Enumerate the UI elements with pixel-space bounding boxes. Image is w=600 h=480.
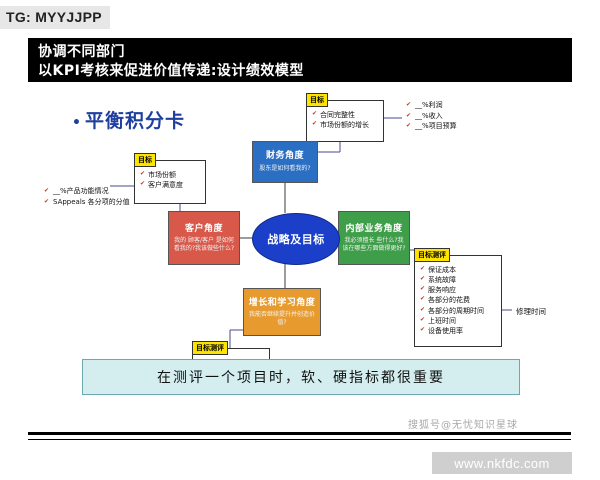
node-title: 增长和学习角度 [249, 298, 316, 309]
callout-item: 各部分的花费 [420, 295, 497, 305]
callout-item: 市场份额 [140, 170, 201, 180]
callout-finance-objectives: 目标 合同完整性 市场份额的增长 [306, 100, 384, 142]
node-customer: 客户角度 我的 顾客/客户 是如何看我的?我该做些什么? [168, 211, 240, 265]
callout-item: 上班时间 [420, 316, 497, 326]
watermark-cn: 搜狐号@无忧知识星球 [408, 416, 518, 431]
node-subtitle: 我的 顾客/客户 是如何看我的?我该做些什么? [169, 237, 239, 253]
node-finance: 财务角度 股东是如何看我的? [252, 141, 318, 183]
node-title: 财务角度 [266, 151, 304, 162]
checklist-item: SAppeals 各分项的分值 [44, 197, 130, 208]
node-subtitle: 我必须擅长 些什么?我该在哪些方面做得更好? [339, 237, 409, 253]
summary-banner: 在测评一个项目时，软、硬指标都很重要 [82, 359, 520, 395]
callout-tag: 目标 [134, 153, 156, 167]
callout-item: 服务响应 [420, 285, 497, 295]
callout-item: 系统故障 [420, 275, 497, 285]
checklist-customer-metrics: __%产品功能情况 SAppeals 各分项的分值 [44, 186, 130, 207]
callout-item: 市场份额的增长 [312, 120, 379, 130]
node-subtitle: 股东是如何看我的? [256, 165, 313, 173]
callout-list: 市场份额 客户满意度 [140, 170, 201, 190]
footer-rule-thick [28, 432, 571, 435]
callout-tag: 目标测评 [414, 248, 450, 262]
callout-item: 客户满意度 [140, 180, 201, 190]
checklist-financial-metrics: __%利润 __%收入 __%项目预算 [406, 100, 457, 132]
callout-item: 保证成本 [420, 265, 497, 275]
watermark-url: www.nkfdc.com [432, 452, 572, 474]
page-title-text: 平衡积分卡 [85, 110, 185, 132]
callout-customer-objectives: 目标 市场份额 客户满意度 [134, 160, 206, 204]
callout-item: 设备使用率 [420, 326, 497, 336]
callout-list: 合同完整性 市场份额的增长 [312, 110, 379, 130]
footer-rule-thin [28, 439, 571, 440]
title-line-2: 以KPI考核来促进价值传递:设计绩效模型 [38, 60, 304, 80]
node-subtitle: 我能否继续提升并创造价值? [244, 311, 320, 327]
callout-item: 各部分的周期时间 [420, 306, 497, 316]
node-title: 客户角度 [185, 224, 223, 235]
node-learning-growth: 增长和学习角度 我能否继续提升并创造价值? [243, 288, 321, 336]
tg-watermark-tag: TG: MYYJJPP [0, 6, 110, 29]
callout-list: 保证成本 系统故障 服务响应 各部分的花费 各部分的周期时间 上班时间 设备使用… [420, 265, 497, 336]
checklist-item: __%项目预算 [406, 121, 457, 132]
slide-canvas: TG: MYYJJPP 协调不同部门 以KPI考核来促进价值传递:设计绩效模型 … [0, 0, 600, 480]
label-repair-time: 修理时间 [516, 306, 546, 317]
title-line-1: 协调不同部门 [38, 41, 125, 61]
checklist-item: __%收入 [406, 111, 457, 122]
callout-item: 合同完整性 [312, 110, 379, 120]
callout-tag: 目标测评 [192, 341, 228, 355]
checklist-item: __%利润 [406, 100, 457, 111]
bullet-icon: • [72, 115, 82, 131]
node-title: 内部业务角度 [345, 224, 402, 235]
node-internal-process: 内部业务角度 我必须擅长 些什么?我该在哪些方面做得更好? [338, 211, 410, 265]
checklist-item: __%产品功能情况 [44, 186, 130, 197]
node-strategy-and-objectives: 战略及目标 [252, 213, 340, 265]
callout-tag: 目标 [306, 93, 328, 107]
callout-internal-objectives: 目标测评 保证成本 系统故障 服务响应 各部分的花费 各部分的周期时间 上班时间… [414, 255, 502, 347]
page-title: •平衡积分卡 [72, 106, 185, 133]
